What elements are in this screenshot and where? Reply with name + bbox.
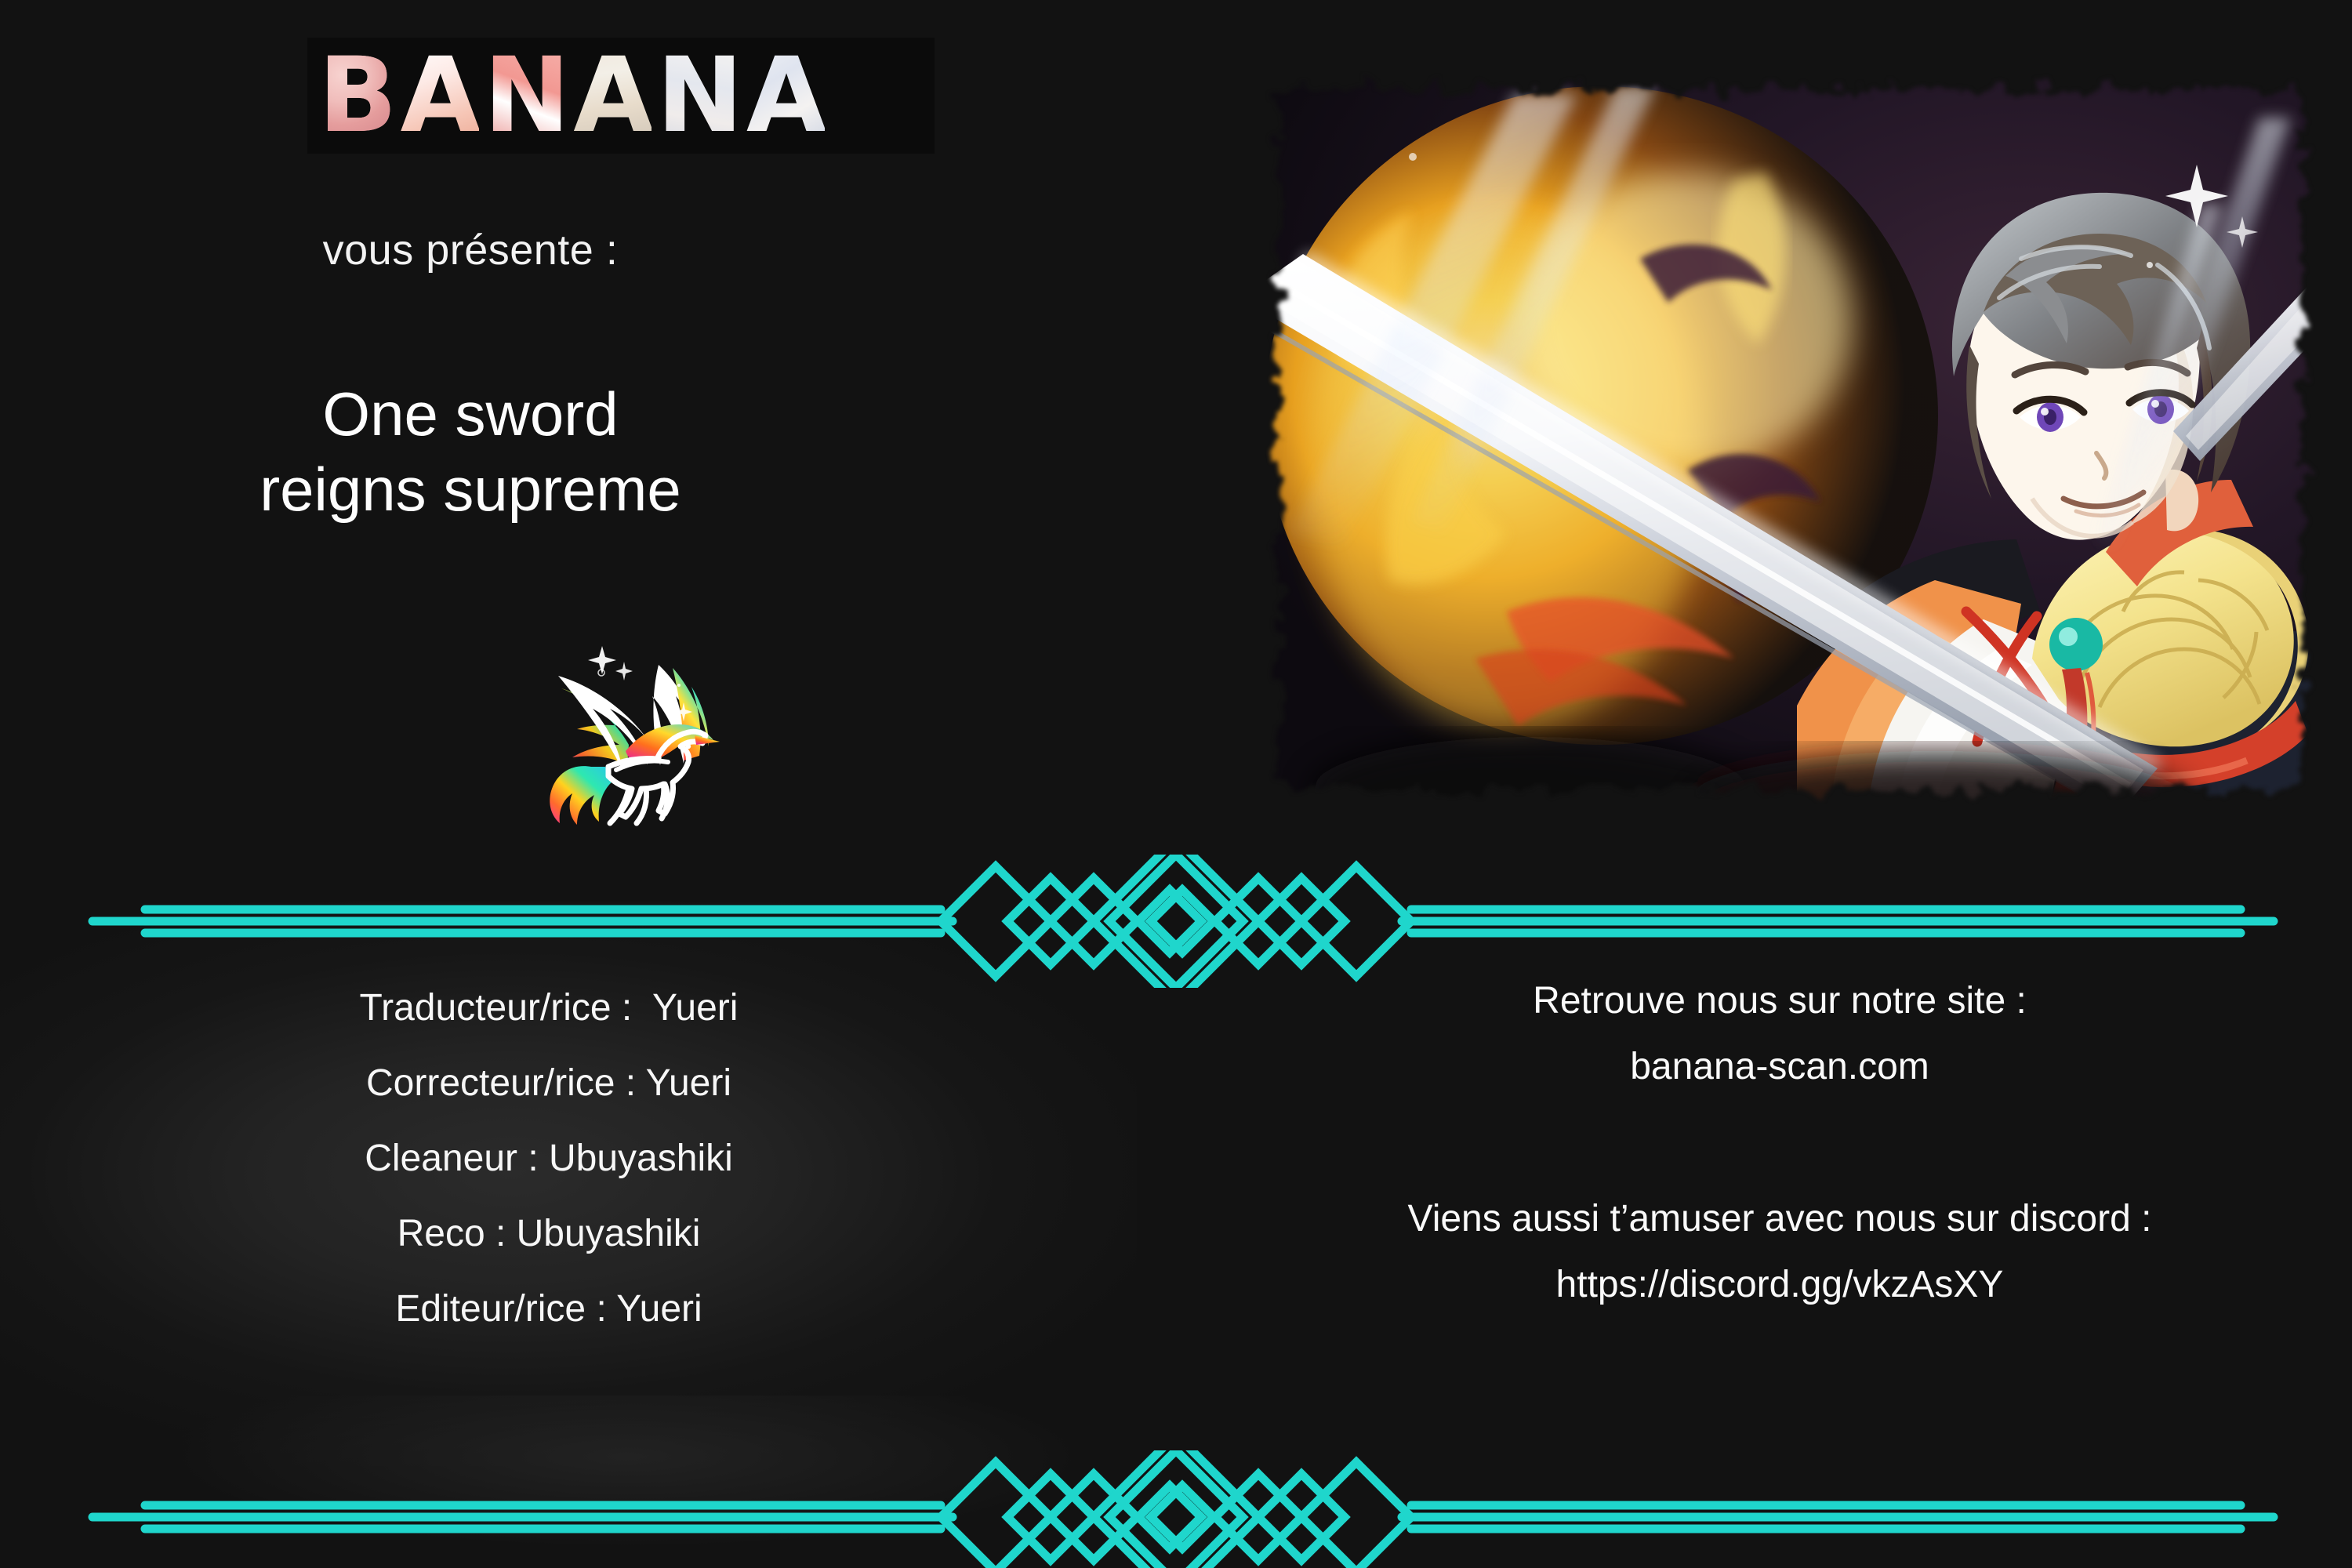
credit-translator: Traducteur/rice : Yueri [47, 971, 1051, 1046]
credits-list: Traducteur/rice : Yueri Correcteur/rice … [47, 971, 1051, 1347]
banana-logo: B A N A N A [307, 38, 935, 154]
website-url[interactable]: banana-scan.com [1254, 1034, 2305, 1100]
logo-letter-6: A [746, 44, 825, 147]
logo-letter-5: N [656, 44, 741, 147]
chapter-credits-page: B A N A N A vous présente : One sword re… [0, 0, 2352, 1568]
contact-info: Retrouve nous sur notre site : banana-sc… [1254, 968, 2305, 1318]
credit-proofreader: Correcteur/rice : Yueri [47, 1046, 1051, 1121]
website-block: Retrouve nous sur notre site : banana-sc… [1254, 968, 2305, 1100]
series-title-line-2: reigns supreme [0, 452, 941, 527]
discord-label: Viens aussi t’amuser avec nous sur disco… [1254, 1186, 2305, 1252]
page-title: One sword reigns supreme [0, 376, 941, 527]
credit-cleaner: Cleaneur : Ubuyashiki [47, 1121, 1051, 1196]
credit-editor: Editeur/rice : Yueri [47, 1272, 1051, 1347]
discord-block: Viens aussi t’amuser avec nous sur disco… [1254, 1186, 2305, 1318]
divider-bottom [0, 1450, 2352, 1568]
pegasus-icon [541, 627, 745, 831]
logo-letter-2: A [401, 44, 479, 147]
logo-letter-3: N [484, 44, 568, 147]
website-label: Retrouve nous sur notre site : [1254, 968, 2305, 1034]
logo-letter-1: B [318, 44, 396, 147]
series-title-line-1: One sword [0, 376, 941, 452]
cover-artwork [1248, 63, 2332, 815]
contact-spacer [1254, 1100, 2305, 1186]
logo-letter-4: A [573, 44, 652, 147]
presents-label: vous présente : [0, 226, 941, 274]
credit-reco: Reco : Ubuyashiki [47, 1196, 1051, 1272]
discord-url[interactable]: https://discord.gg/vkzAsXY [1254, 1252, 2305, 1318]
